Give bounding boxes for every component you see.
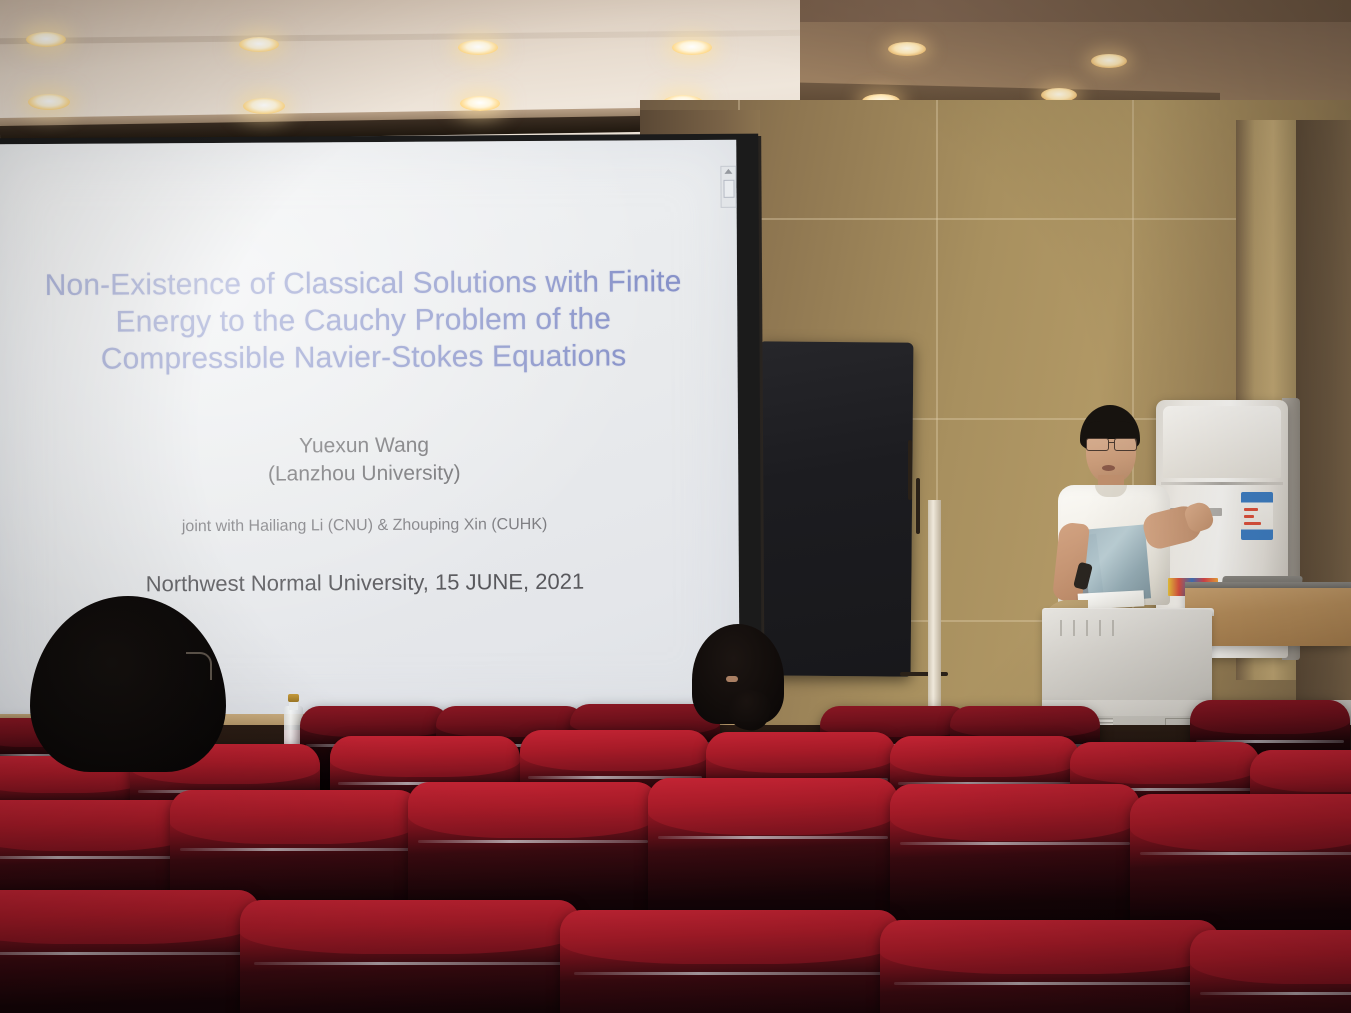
seat-top [520,730,710,771]
ceiling-downlight [888,42,926,56]
ceiling-downlight [243,98,285,114]
ceiling-downlight [458,40,498,55]
glasses-bridge [1108,442,1115,443]
seat[interactable] [240,900,580,1013]
energy-label-bar [1244,515,1254,518]
ceiling-downlight [26,32,66,47]
energy-label-bar [1244,508,1258,511]
seat-top [408,782,658,838]
slide-scrollbar[interactable] [720,166,736,208]
wall-cable-conduit [928,500,941,736]
seat-top [170,790,420,844]
seat-top [240,900,580,954]
display-cable [908,440,912,500]
seat-trim [1200,992,1351,995]
seat-top [1190,930,1351,984]
bottle-cap [288,694,299,702]
presenter-glasses [1085,438,1138,450]
seat-top [890,736,1080,777]
slide-venue: Northwest Normal University, 15 JUNE, 20… [21,568,709,598]
slide-author-block: Yuexun Wang (Lanzhou University) [20,430,708,490]
presenter-mouth [1102,465,1115,471]
slide-coauthors: joint with Hailiang Li (CNU) & Zhouping … [21,515,709,537]
seat[interactable] [560,910,900,1013]
seat-top [330,736,520,777]
seat-trim [574,972,887,975]
slide-title-line-3: Compressible Navier-Stokes Equations [19,337,707,378]
seat-trim [1140,852,1351,855]
presenter-hair-fringe [1081,421,1139,439]
seat-top [648,778,898,835]
slide-title-line-2: Energy to the Cauchy Problem of the [19,300,707,341]
glasses-lens-left [1086,438,1109,451]
seat[interactable] [0,890,260,1013]
energy-label-bar [1244,522,1261,525]
ceiling-downlight [239,37,279,52]
seat-top [1130,794,1351,851]
ceiling-downlight [1091,54,1127,68]
seat-trim [0,856,190,859]
seat-top [1250,750,1351,792]
seat-top [880,920,1220,974]
seat-trim [894,982,1207,985]
seat-trim [658,836,888,839]
seat-top [0,890,260,944]
seat-trim [254,962,567,965]
ceiling-downlight [28,94,70,110]
seat-top [890,784,1140,841]
slide-author-affiliation: (Lanzhou University) [20,458,708,490]
seat-top [950,706,1100,737]
seat[interactable] [1190,930,1351,1013]
seat-top [1070,742,1260,784]
seat-top [300,706,450,737]
slide-title-line-1: Non-Existence of Classical Solutions wit… [19,263,707,304]
seat[interactable] [880,920,1220,1013]
seat-trim [0,952,247,955]
scrollbar-thumb[interactable] [723,180,734,198]
seat-trim [418,840,648,843]
wall-display-panel[interactable] [759,341,914,676]
seat-top [560,910,900,964]
audience-glasses-icon [186,652,212,680]
seat-trim [900,842,1130,845]
display-cable [916,478,920,534]
seat-top [706,732,896,773]
ceiling-downlight [672,40,712,55]
ceiling-downlight [460,96,500,111]
lecture-hall-scene: Non-Existence of Classical Solutions wit… [0,0,1351,1013]
slide-author-name: Yuexun Wang [20,430,708,462]
lectern-vent-slots [1060,620,1116,636]
slide-title: Non-Existence of Classical Solutions wit… [19,263,708,378]
seat-top [1190,700,1350,734]
energy-label [1241,492,1273,540]
audience-hair-tie [726,676,738,682]
scroll-up-arrow-icon[interactable] [724,169,732,174]
glasses-lens-right [1114,438,1137,451]
seat-trim [180,848,410,851]
